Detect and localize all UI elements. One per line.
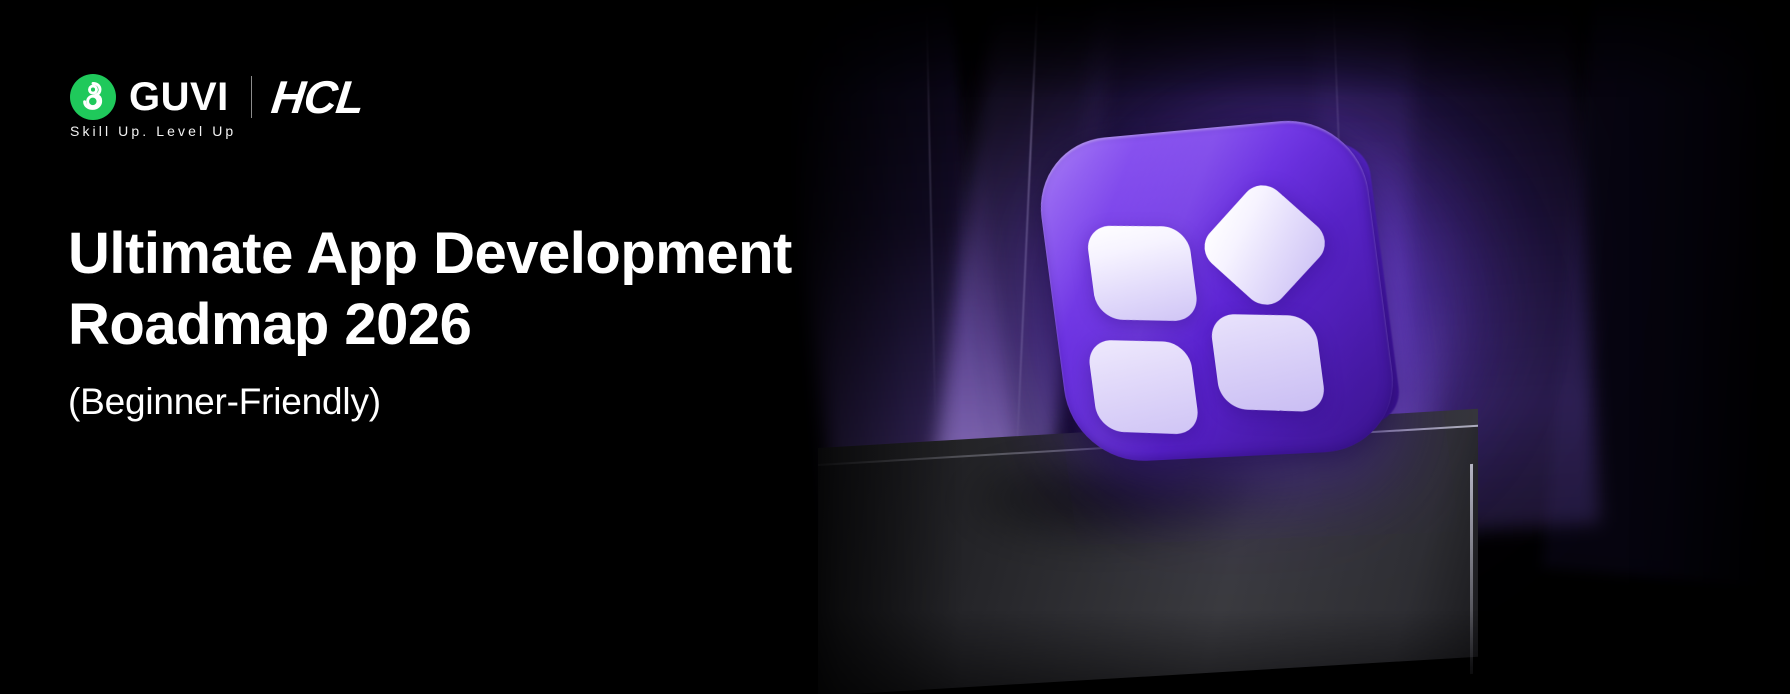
pedestal-right-edge [1470,464,1473,674]
app-icon-face [1032,114,1403,464]
hero-banner: GUVI HCL Skill Up. Level Up Ultimate App… [0,0,1790,694]
guvi-g-logo-icon [70,74,116,120]
app-icon-tile-top-right [1196,176,1335,314]
headline-line-1: Ultimate App Development [68,218,968,289]
app-icon-3d [1032,114,1403,464]
app-icon-tile-top-left [1085,226,1200,322]
app-icon-tile-bottom-left [1086,340,1200,435]
brand-tagline: Skill Up. Level Up [70,124,236,138]
hero-subheadline: (Beginner-Friendly) [68,380,381,424]
brand-divider [251,76,253,118]
app-icon-tile-bottom-right [1209,314,1327,413]
brand-lockup: GUVI HCL [70,72,364,122]
pedestal-shadow [938,445,1378,621]
hcl-wordmark: HCL [269,74,366,120]
hero-headline: Ultimate App Development Roadmap 2026 [68,218,968,360]
guvi-wordmark: GUVI [129,77,229,117]
headline-line-2: Roadmap 2026 [68,289,968,360]
pedestal-slab [818,448,1478,694]
